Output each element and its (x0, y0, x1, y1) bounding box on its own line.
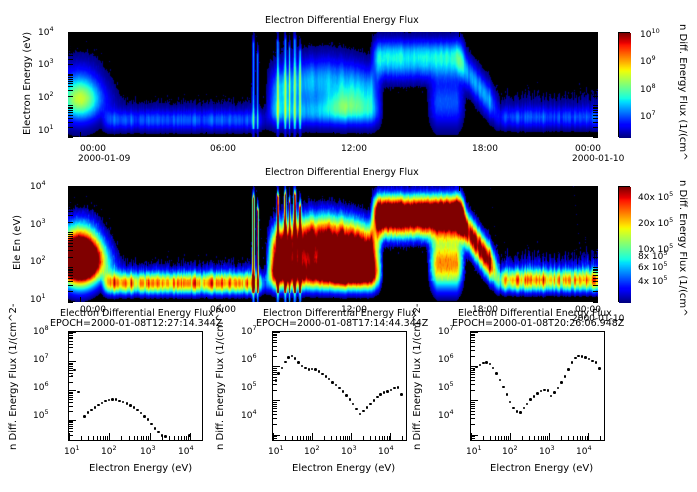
y-minor-tick-6 (471, 414, 475, 415)
y-minor-tick-13 (471, 390, 475, 391)
top-xtick-4: 00:00 (575, 144, 601, 154)
y-minor-tick-26 (273, 340, 277, 341)
ytick-major-0 (68, 302, 73, 303)
y-minor-tick-5 (471, 418, 475, 419)
ytick-major-13 (68, 243, 73, 244)
x-minor-tick-13 (137, 436, 138, 440)
bp3-ytick-6: 106 (438, 355, 454, 365)
data-point (73, 369, 76, 372)
x-major-tick-3 (351, 433, 352, 440)
ytick-right-11 (593, 250, 598, 251)
data-point (318, 370, 321, 373)
data-point (547, 389, 550, 392)
top-ytick-2: 102 (38, 93, 54, 103)
y-minor-tick-0 (471, 440, 475, 441)
x-minor-tick-22 (178, 436, 179, 440)
ytick-right-17 (593, 75, 598, 76)
middle-colorbar-label: n Diff. Energy Flux (1/(cm^ (688, 180, 697, 191)
bottom-panel-2-ylabel: n Diff. Energy Flux (1/(cm^2- (215, 450, 362, 461)
data-point (379, 393, 382, 396)
ytick-right-12 (593, 86, 598, 87)
data-point (355, 408, 358, 411)
ytick-major-16 (68, 236, 73, 237)
y-minor-tick-18 (69, 382, 73, 383)
x-minor-tick-16 (545, 436, 546, 440)
data-point (115, 398, 118, 401)
ytick-major-19 (68, 222, 73, 223)
ytick-major-28 (68, 187, 73, 188)
ytick-major-22 (68, 52, 73, 53)
ytick-major-26 (68, 44, 73, 45)
bp3-ytick-4: 104 (438, 411, 454, 421)
ytick-right-1 (593, 291, 598, 292)
data-point (577, 355, 580, 358)
bottom-panel-3-ylabel: n Diff. Energy Flux (1/(cm^2- (412, 450, 559, 461)
data-point (502, 386, 505, 389)
xtick-major-1 (206, 297, 207, 302)
x-minor-tick-24 (184, 436, 185, 440)
ytick-major-6 (68, 272, 73, 273)
data-point (104, 400, 107, 403)
ytick-right-22 (593, 52, 598, 53)
x-minor-tick-19 (363, 436, 364, 440)
x-minor-tick-12 (534, 436, 535, 440)
ytick-major-5 (68, 112, 73, 113)
y-minor-tick-24 (273, 346, 277, 347)
data-point (543, 389, 546, 392)
middle-panel-title: Electron Differential Energy Flux (265, 167, 419, 178)
top-colorbar (618, 32, 630, 137)
x-minor-tick-26 (188, 436, 189, 440)
data-point (97, 404, 100, 407)
data-point (297, 361, 300, 364)
data-point (383, 391, 386, 394)
bottom-panel-3-plot-area (470, 331, 605, 441)
y-major-tick-4 (471, 435, 478, 436)
ytick-major-1 (68, 291, 73, 292)
ytick-right-8 (593, 269, 598, 270)
x-minor-tick-11 (129, 436, 130, 440)
ytick-major-19 (68, 64, 73, 65)
top-xtick-1: 06:00 (210, 144, 236, 154)
y-minor-tick-20 (69, 373, 73, 374)
bp3-ytick-7: 107 (438, 327, 454, 337)
top-colorbar-label: n Diff. Energy Flux (1/(cm^ (688, 24, 697, 35)
ytick-major-23 (68, 49, 73, 50)
ytick-right-13 (593, 83, 598, 84)
x-minor-tick-3 (93, 436, 94, 440)
x-minor-tick-4 (97, 436, 98, 440)
middle-spectrogram (68, 186, 598, 302)
data-point (598, 367, 601, 370)
ytick-major-21 (68, 211, 73, 212)
data-point (390, 389, 393, 392)
y-minor-tick-14 (471, 384, 475, 385)
bp2-xtick-2: 102 (304, 447, 320, 457)
ytick-major-22 (68, 208, 73, 209)
y-major-tick-7 (69, 361, 76, 362)
data-point (301, 365, 304, 368)
y-minor-tick-31 (69, 338, 73, 339)
y-minor-tick-4 (273, 424, 277, 425)
top-xtick-2: 12:00 (341, 144, 367, 154)
xtick-major-0 (80, 297, 81, 302)
y-minor-tick-19 (273, 370, 277, 371)
bp1-ytick-7: 107 (33, 355, 49, 365)
data-point (140, 412, 143, 415)
x-minor-tick-24 (582, 436, 583, 440)
x-minor-tick-7 (506, 436, 507, 440)
y-minor-tick-1 (471, 438, 475, 439)
top-xtick-0: 00:00 (80, 144, 106, 154)
bp1-ytick-8: 108 (33, 327, 49, 337)
data-point (376, 396, 379, 399)
data-point (366, 406, 369, 409)
x-minor-tick-5 (501, 436, 502, 440)
data-point (335, 384, 338, 387)
y-minor-tick-20 (273, 368, 277, 369)
data-point (560, 381, 563, 384)
ytick-major-20 (68, 59, 73, 60)
data-point (574, 357, 577, 360)
middle-cbar-tick-6: 6x 105 (638, 263, 668, 273)
data-point (349, 398, 352, 401)
ytick-right-9 (593, 267, 598, 268)
bp2-ytick-7: 107 (241, 327, 257, 337)
ytick-right-15 (593, 79, 598, 80)
top-ytick-1: 101 (38, 126, 54, 136)
ytick-major-20 (68, 215, 73, 216)
ytick-major-9 (68, 105, 73, 106)
ytick-right-21 (593, 211, 598, 212)
y-minor-tick-10 (69, 406, 73, 407)
x-minor-tick-1 (285, 436, 286, 440)
data-point (536, 392, 539, 395)
y-minor-tick-15 (471, 380, 475, 381)
ytick-right-3 (593, 281, 598, 282)
x-minor-tick-20 (370, 436, 371, 440)
y-minor-tick-28 (471, 335, 475, 336)
x-minor-tick-23 (181, 436, 182, 440)
y-minor-tick-14 (69, 395, 73, 396)
bp3-xtick-2: 102 (502, 447, 518, 457)
ytick-right-2 (593, 122, 598, 123)
ytick-right-18 (593, 74, 598, 75)
ytick-major-4 (68, 278, 73, 279)
x-minor-tick-14 (141, 436, 142, 440)
bp1-ytick-5: 105 (33, 411, 49, 421)
data-point (595, 361, 598, 364)
y-minor-tick-7 (273, 411, 277, 412)
data-point (529, 398, 532, 401)
top-ytick-3: 103 (38, 60, 54, 70)
bp1-xtick-1: 101 (64, 447, 80, 457)
x-minor-tick-28 (600, 436, 601, 440)
ytick-right-16 (593, 77, 598, 78)
data-point (345, 394, 348, 397)
xtick-major-4 (586, 132, 587, 137)
ytick-right-8 (593, 107, 598, 108)
bottom-panel-1-ylabel: n Diff. Energy Flux (1/(cm^2- (8, 450, 155, 461)
ytick-major-1 (68, 127, 73, 128)
middle-cbar-tick-40: 40x 105 (638, 193, 673, 203)
x-minor-tick-10 (324, 436, 325, 440)
ytick-right-4 (593, 278, 598, 279)
data-point (564, 375, 567, 378)
x-minor-tick-21 (174, 436, 175, 440)
ytick-right-3 (593, 118, 598, 119)
top-cbar-tick-10: 1010 (640, 30, 660, 40)
data-point (499, 379, 502, 382)
y-minor-tick-27 (273, 337, 277, 338)
x-minor-tick-25 (585, 436, 586, 440)
y-minor-tick-11 (471, 402, 475, 403)
y-minor-tick-4 (471, 424, 475, 425)
x-minor-tick-16 (347, 436, 348, 440)
middle-ytick-2: 102 (30, 257, 46, 267)
ytick-right-26 (593, 199, 598, 200)
x-minor-tick-7 (105, 436, 106, 440)
data-point (369, 403, 372, 406)
ytick-right-10 (593, 96, 598, 97)
x-minor-tick-24 (384, 436, 385, 440)
y-minor-tick-16 (273, 377, 277, 378)
y-major-tick-6 (69, 390, 76, 391)
ytick-major-13 (68, 83, 73, 84)
middle-panel-ylabel: Ele En (eV) (12, 270, 67, 281)
ytick-major-3 (68, 118, 73, 119)
bp2-ytick-6: 106 (241, 355, 257, 365)
data-point (294, 357, 297, 360)
x-minor-tick-3 (495, 436, 496, 440)
y-minor-tick-2 (273, 436, 277, 437)
y-minor-tick-10 (273, 404, 277, 405)
y-major-tick-4 (273, 435, 280, 436)
ytick-right-22 (593, 208, 598, 209)
x-minor-tick-25 (186, 436, 187, 440)
top-cbar-tick-9: 109 (640, 57, 656, 67)
data-point (122, 401, 125, 404)
ytick-right-19 (593, 222, 598, 223)
x-minor-tick-22 (577, 436, 578, 440)
x-minor-tick-13 (538, 436, 539, 440)
top-cbar-tick-8: 108 (640, 85, 656, 95)
ytick-major-27 (68, 197, 73, 198)
y-minor-tick-17 (273, 374, 277, 375)
data-point (362, 410, 365, 413)
y-minor-tick-7 (471, 411, 475, 412)
x-minor-tick-16 (146, 436, 147, 440)
ytick-major-15 (68, 79, 73, 80)
y-minor-tick-13 (273, 390, 277, 391)
data-point (492, 367, 495, 370)
bottom-panel-2-plot-area (272, 331, 407, 441)
x-minor-tick-14 (541, 436, 542, 440)
y-minor-tick-3 (69, 428, 73, 429)
data-point (506, 393, 509, 396)
y-minor-tick-29 (471, 334, 475, 335)
middle-cbar-tick-20: 20x 105 (638, 219, 673, 229)
data-point (77, 391, 80, 394)
xtick-top-2 (333, 32, 334, 37)
ytick-major-8 (68, 269, 73, 270)
xtick-major-4 (586, 297, 587, 302)
y-minor-tick-4 (69, 426, 73, 427)
data-point (584, 356, 587, 359)
data-point (338, 387, 341, 390)
middle-ytick-4: 104 (30, 182, 46, 192)
y-minor-tick-15 (69, 393, 73, 394)
ytick-right-19 (593, 64, 598, 65)
ytick-major-6 (68, 110, 73, 111)
y-major-tick-5 (69, 420, 76, 421)
data-point (523, 407, 526, 410)
xtick-top-3 (459, 32, 460, 37)
ytick-major-18 (68, 74, 73, 75)
top-cbar-tick-7: 107 (640, 112, 656, 122)
y-minor-tick-28 (273, 335, 277, 336)
ytick-right-14 (593, 240, 598, 241)
data-point (373, 399, 376, 402)
data-point (325, 375, 328, 378)
xtick-top-1 (206, 32, 207, 37)
ytick-right-24 (593, 203, 598, 204)
y-minor-tick-11 (69, 402, 73, 403)
y-minor-tick-13 (69, 397, 73, 398)
x-minor-tick-28 (202, 436, 203, 440)
x-minor-tick-20 (568, 436, 569, 440)
ytick-major-14 (68, 240, 73, 241)
ytick-major-3 (68, 281, 73, 282)
x-minor-tick-4 (300, 436, 301, 440)
bp3-xtick-3: 103 (539, 447, 555, 457)
ytick-major-25 (68, 201, 73, 202)
xtick-major-2 (333, 297, 334, 302)
ytick-major-11 (68, 90, 73, 91)
data-point (540, 390, 543, 393)
data-point (150, 423, 153, 426)
y-minor-tick-26 (471, 340, 475, 341)
y-minor-tick-22 (471, 356, 475, 357)
y-major-tick-7 (273, 332, 280, 333)
y-minor-tick-9 (471, 406, 475, 407)
y-minor-tick-9 (273, 406, 277, 407)
data-point (581, 355, 584, 358)
y-minor-tick-17 (471, 374, 475, 375)
data-point (400, 393, 403, 396)
bottom-panel-1-xlabel: Electron Energy (eV) (89, 463, 192, 474)
y-minor-tick-18 (471, 372, 475, 373)
ytick-major-15 (68, 238, 73, 239)
ytick-major-10 (68, 257, 73, 258)
y-minor-tick-5 (69, 424, 73, 425)
data-point (136, 409, 139, 412)
bp1-ytick-6: 106 (33, 383, 49, 393)
top-xtick-3: 18:00 (472, 144, 498, 154)
x-minor-tick-4 (498, 436, 499, 440)
data-point (154, 427, 157, 430)
data-point (331, 381, 334, 384)
data-point (489, 363, 492, 366)
ytick-right-25 (593, 201, 598, 202)
y-minor-tick-2 (69, 431, 73, 432)
data-point (393, 387, 396, 390)
bottom-panel-3-subtitle: EPOCH=2000-01-08T20:26:06.948Z (452, 318, 624, 329)
y-major-tick-6 (471, 366, 478, 367)
y-minor-tick-23 (69, 366, 73, 367)
ytick-right-10 (593, 257, 598, 258)
x-minor-tick-21 (375, 436, 376, 440)
x-major-tick-2 (312, 433, 313, 440)
xtick-top-0 (80, 186, 81, 191)
ytick-right-14 (593, 81, 598, 82)
x-minor-tick-7 (308, 436, 309, 440)
y-major-tick-5 (273, 400, 280, 401)
y-minor-tick-19 (69, 376, 73, 377)
bottom-panel-2-xlabel: Electron Energy (eV) (292, 463, 395, 474)
x-minor-tick-19 (162, 436, 163, 440)
ytick-right-0 (593, 302, 598, 303)
x-minor-tick-5 (303, 436, 304, 440)
ytick-major-21 (68, 55, 73, 56)
ytick-major-2 (68, 122, 73, 123)
y-major-tick-6 (273, 366, 280, 367)
x-minor-tick-15 (143, 436, 144, 440)
ytick-right-20 (593, 59, 598, 60)
middle-ytick-3: 103 (30, 220, 46, 230)
ytick-major-28 (68, 33, 73, 34)
x-minor-tick-20 (169, 436, 170, 440)
y-minor-tick-29 (69, 344, 73, 345)
ytick-right-2 (593, 285, 598, 286)
ytick-major-10 (68, 96, 73, 97)
ytick-right-5 (593, 112, 598, 113)
data-point (567, 368, 570, 371)
x-minor-tick-5 (100, 436, 101, 440)
x-minor-tick-6 (103, 436, 104, 440)
data-point (129, 404, 132, 407)
data-point (111, 398, 114, 401)
data-point (479, 364, 482, 367)
y-minor-tick-27 (69, 352, 73, 353)
x-minor-tick-12 (336, 436, 337, 440)
ytick-major-24 (68, 203, 73, 204)
middle-colorbar (618, 186, 630, 302)
y-minor-tick-22 (273, 356, 277, 357)
ytick-major-12 (68, 246, 73, 247)
data-point (287, 356, 290, 359)
bp1-xtick-4: 104 (178, 447, 194, 457)
data-point (591, 360, 594, 363)
data-point (571, 361, 574, 364)
bottom-panel-1-subtitle: EPOCH=2000-01-08T12:27:14.344Z (50, 318, 222, 329)
data-point (495, 372, 498, 375)
x-minor-tick-17 (148, 436, 149, 440)
x-major-tick-2 (510, 433, 511, 440)
data-point (83, 415, 86, 418)
data-point (118, 400, 121, 403)
y-minor-tick-15 (273, 380, 277, 381)
ytick-right-15 (593, 238, 598, 239)
ytick-major-27 (68, 42, 73, 43)
y-minor-tick-27 (471, 337, 475, 338)
x-minor-tick-28 (402, 436, 403, 440)
y-major-tick-8 (69, 332, 76, 333)
data-point (157, 431, 160, 434)
x-minor-tick-1 (81, 436, 82, 440)
y-minor-tick-30 (69, 341, 73, 342)
data-point (509, 401, 512, 404)
